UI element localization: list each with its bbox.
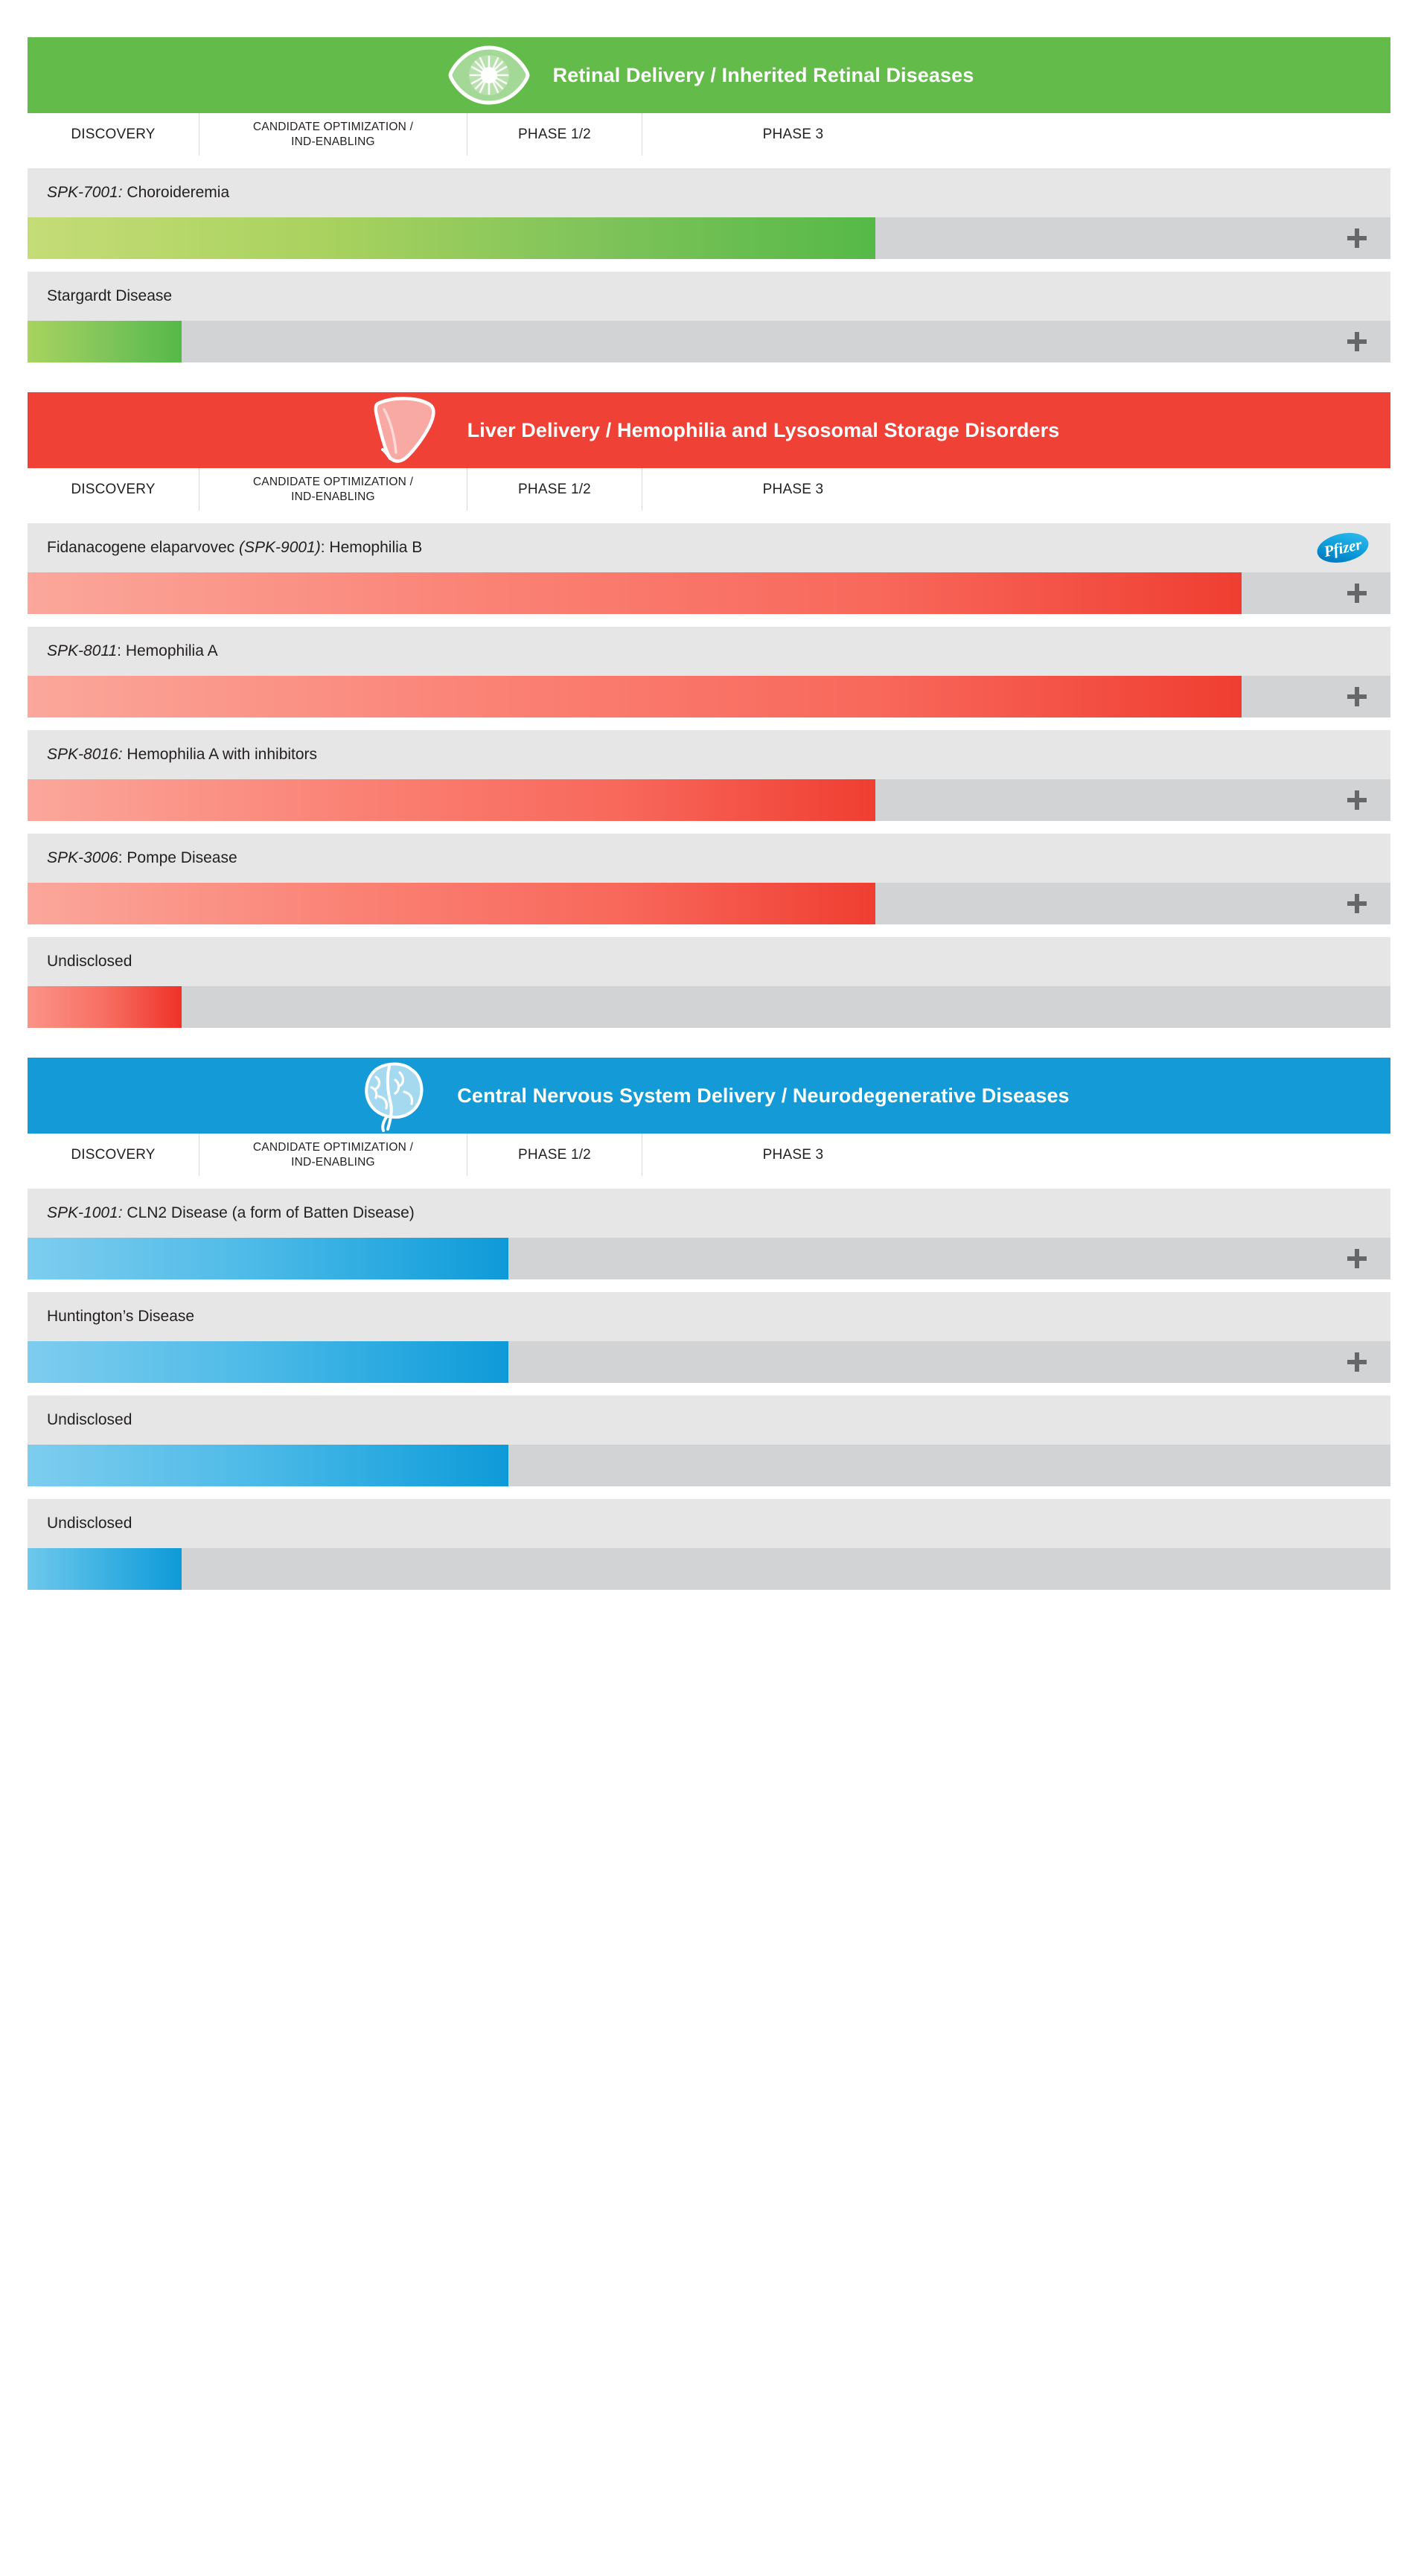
program-label-bar: Stargardt Disease: [28, 272, 1390, 321]
program-label-bar: Undisclosed: [28, 937, 1390, 986]
program-row[interactable]: Undisclosed: [28, 1396, 1390, 1486]
program-row[interactable]: Huntington’s Disease: [28, 1292, 1390, 1383]
program-name: Undisclosed: [47, 952, 132, 971]
progress-bar: [28, 1548, 182, 1590]
progress-track: [28, 572, 1390, 614]
expand-plus-icon[interactable]: [1347, 894, 1367, 913]
phase-label-line1: CANDIDATE OPTIMIZATION /: [253, 1141, 413, 1154]
program-row[interactable]: SPK-8011: Hemophilia A: [28, 627, 1390, 717]
section-title-cns: Central Nervous System Delivery / Neurod…: [457, 1084, 1069, 1108]
program-indication: : Pompe Disease: [118, 849, 237, 866]
phase-column-discovery: DISCOVERY: [28, 468, 199, 511]
program-label-bar: SPK-3006: Pompe Disease: [28, 834, 1390, 883]
program-code: SPK-8011: [47, 642, 117, 659]
progress-track: [28, 1548, 1390, 1590]
program-indication: CLN2 Disease (a form of Batten Disease): [123, 1204, 415, 1221]
progress-bar: [28, 986, 182, 1028]
progress-bar: [28, 217, 875, 259]
phase-label-line1: CANDIDATE OPTIMIZATION /: [253, 121, 413, 133]
program-label-bar: Huntington’s Disease: [28, 1292, 1390, 1341]
progress-bar: [28, 1445, 508, 1486]
program-indication: Choroideremia: [123, 184, 230, 201]
progress-track: [28, 986, 1390, 1028]
section-title-retinal: Retinal Delivery / Inherited Retinal Dis…: [553, 64, 974, 87]
program-row[interactable]: SPK-8016: Hemophilia A with inhibitors: [28, 730, 1390, 821]
progress-bar: [28, 676, 1242, 717]
progress-track: [28, 779, 1390, 821]
section-cns: Central Nervous System Delivery / Neurod…: [28, 1058, 1390, 1590]
phase-column-discovery: DISCOVERY: [28, 113, 199, 156]
program-label-bar: Undisclosed: [28, 1396, 1390, 1445]
phase-column-phase-1-2: PHASE 1/2: [467, 1134, 642, 1176]
section-liver: Liver Delivery / Hemophilia and Lysosoma…: [28, 392, 1390, 1028]
program-name: Undisclosed: [47, 1514, 132, 1533]
phase-column-phase-1-2: PHASE 1/2: [467, 468, 642, 511]
program-label-bar: SPK-8016: Hemophilia A with inhibitors: [28, 730, 1390, 779]
progress-track: [28, 321, 1390, 362]
program-name: Undisclosed: [47, 1410, 132, 1429]
section-header-liver: Liver Delivery / Hemophilia and Lysosoma…: [28, 392, 1390, 468]
progress-bar: [28, 779, 875, 821]
program-row[interactable]: SPK-1001: CLN2 Disease (a form of Batten…: [28, 1189, 1390, 1279]
program-name: Fidanacogene elaparvovec (SPK-9001): Hem…: [47, 538, 422, 557]
program-label-bar: SPK-8011: Hemophilia A: [28, 627, 1390, 676]
phase-label-line2: IND-ENABLING: [291, 1156, 375, 1169]
progress-track: [28, 1341, 1390, 1383]
phase-label-line1: CANDIDATE OPTIMIZATION /: [253, 476, 413, 488]
phase-column-phase-1-2: PHASE 1/2: [467, 113, 642, 156]
section-retinal: Retinal Delivery / Inherited Retinal Dis…: [28, 37, 1390, 362]
program-name: Stargardt Disease: [47, 287, 172, 305]
expand-plus-icon[interactable]: [1347, 332, 1367, 351]
brain-icon: [348, 1060, 438, 1131]
program-row[interactable]: SPK-7001: Choroideremia: [28, 168, 1390, 259]
phase-header-retinal: DISCOVERY CANDIDATE OPTIMIZATION / IND-E…: [28, 113, 1390, 156]
liver-icon: [359, 394, 448, 466]
program-indication: Undisclosed: [47, 953, 132, 970]
program-name: SPK-1001: CLN2 Disease (a form of Batten…: [47, 1204, 415, 1222]
progress-bar: [28, 883, 875, 924]
expand-plus-icon[interactable]: [1347, 1352, 1367, 1372]
progress-bar: [28, 572, 1242, 614]
phase-label-line2: IND-ENABLING: [291, 135, 375, 148]
program-code: SPK-8016:: [47, 746, 123, 763]
progress-bar: [28, 1341, 508, 1383]
progress-bar: [28, 1238, 508, 1279]
program-indication: Stargardt Disease: [47, 287, 172, 304]
program-prefix: Fidanacogene elaparvovec: [47, 539, 239, 556]
pipeline-chart: Retinal Delivery / Inherited Retinal Dis…: [0, 0, 1418, 2576]
program-code: SPK-1001:: [47, 1204, 123, 1221]
expand-plus-icon[interactable]: [1347, 228, 1367, 248]
progress-bar: [28, 321, 182, 362]
program-row[interactable]: Fidanacogene elaparvovec (SPK-9001): Hem…: [28, 523, 1390, 614]
phase-column-candidate-optimization: CANDIDATE OPTIMIZATION / IND-ENABLING: [199, 113, 467, 156]
progress-track: [28, 217, 1390, 259]
phase-label-line2: IND-ENABLING: [291, 490, 375, 503]
program-indication: : Hemophilia A: [117, 642, 217, 659]
phase-column-discovery: DISCOVERY: [28, 1134, 199, 1176]
pfizer-logo: Pfizer: [1315, 531, 1371, 565]
section-title-liver: Liver Delivery / Hemophilia and Lysosoma…: [467, 419, 1060, 442]
program-name: SPK-8011: Hemophilia A: [47, 642, 218, 660]
phase-column-candidate-optimization: CANDIDATE OPTIMIZATION / IND-ENABLING: [199, 1134, 467, 1176]
program-name: Huntington’s Disease: [47, 1307, 194, 1326]
phase-header-liver: DISCOVERY CANDIDATE OPTIMIZATION / IND-E…: [28, 468, 1390, 511]
progress-track: [28, 676, 1390, 717]
eye-icon: [444, 39, 534, 111]
section-header-retinal: Retinal Delivery / Inherited Retinal Dis…: [28, 37, 1390, 113]
program-code: (SPK-9001): [239, 539, 321, 556]
phase-column-phase-3: PHASE 3: [642, 468, 944, 511]
expand-plus-icon[interactable]: [1347, 790, 1367, 810]
progress-track: [28, 1238, 1390, 1279]
top-spacer: [28, 0, 1390, 37]
expand-plus-icon[interactable]: [1347, 1249, 1367, 1268]
program-label-bar: Undisclosed: [28, 1499, 1390, 1548]
program-row[interactable]: Undisclosed: [28, 937, 1390, 1028]
program-row[interactable]: Undisclosed: [28, 1499, 1390, 1590]
program-indication: Undisclosed: [47, 1515, 132, 1532]
section-gap: [28, 362, 1390, 392]
phase-header-cns: DISCOVERY CANDIDATE OPTIMIZATION / IND-E…: [28, 1134, 1390, 1176]
expand-plus-icon[interactable]: [1347, 584, 1367, 603]
phase-column-phase-3: PHASE 3: [642, 1134, 944, 1176]
program-row[interactable]: Stargardt Disease: [28, 272, 1390, 362]
expand-plus-icon[interactable]: [1347, 687, 1367, 706]
progress-track: [28, 1445, 1390, 1486]
program-label-bar: Fidanacogene elaparvovec (SPK-9001): Hem…: [28, 523, 1390, 572]
program-code: SPK-3006: [47, 849, 118, 866]
program-code: SPK-7001:: [47, 184, 123, 201]
program-label-bar: SPK-1001: CLN2 Disease (a form of Batten…: [28, 1189, 1390, 1238]
program-indication: Undisclosed: [47, 1411, 132, 1428]
program-label-bar: SPK-7001: Choroideremia: [28, 168, 1390, 217]
progress-track: [28, 883, 1390, 924]
program-indication: Huntington’s Disease: [47, 1308, 194, 1325]
program-indication: Hemophilia A with inhibitors: [123, 746, 317, 763]
program-name: SPK-3006: Pompe Disease: [47, 848, 237, 867]
section-header-cns: Central Nervous System Delivery / Neurod…: [28, 1058, 1390, 1134]
phase-column-candidate-optimization: CANDIDATE OPTIMIZATION / IND-ENABLING: [199, 468, 467, 511]
program-indication: : Hemophilia B: [321, 539, 423, 556]
program-name: SPK-7001: Choroideremia: [47, 183, 229, 202]
section-gap: [28, 1028, 1390, 1058]
program-row[interactable]: SPK-3006: Pompe Disease: [28, 834, 1390, 924]
phase-column-phase-3: PHASE 3: [642, 113, 944, 156]
program-name: SPK-8016: Hemophilia A with inhibitors: [47, 745, 317, 764]
